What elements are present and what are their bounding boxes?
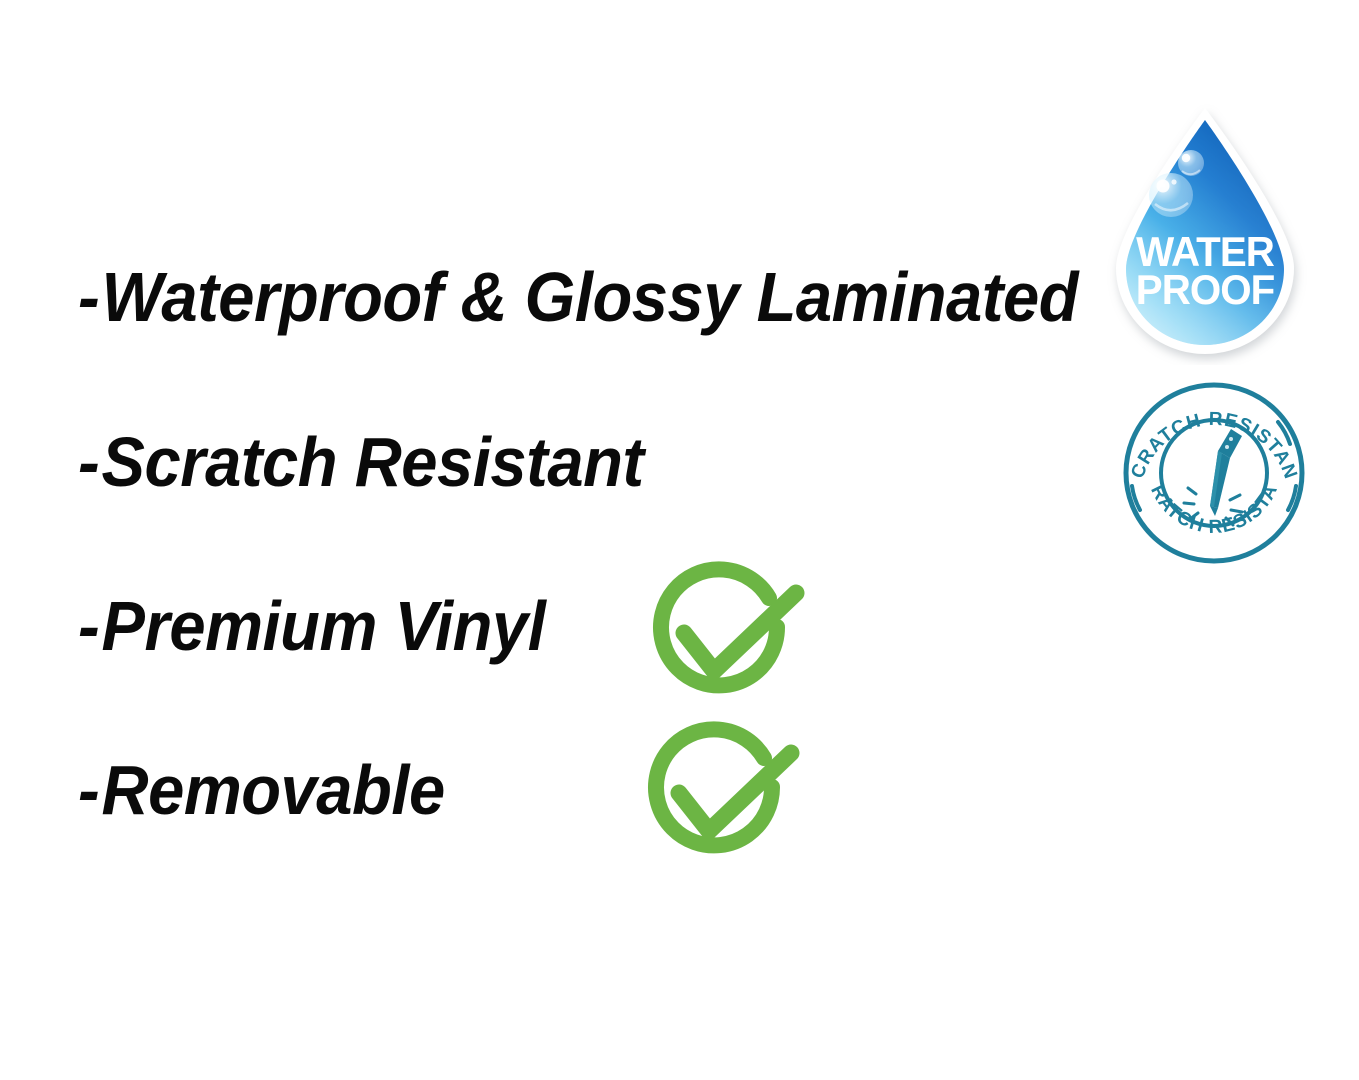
- feature-label: Waterproof & Glossy Laminated: [102, 258, 1078, 336]
- product-feature-graphic: -Waterproof & Glossy Laminated -Scratch …: [0, 0, 1359, 1080]
- feature-label: Scratch Resistant: [102, 423, 644, 501]
- check-circle-icon: [630, 718, 830, 878]
- feature-bullet-dash: -: [78, 751, 102, 829]
- feature-label: Removable: [102, 751, 445, 829]
- check-circle-icon: [635, 558, 835, 718]
- feature-label: Premium Vinyl: [102, 587, 546, 665]
- seal-text-top: SCRATCH RESISTANT: [1118, 382, 1301, 482]
- knife-icon: [1210, 429, 1242, 516]
- feature-bullet-dash: -: [78, 258, 102, 336]
- feature-item-removable: -Removable: [78, 755, 445, 825]
- bubble-small-icon: [1178, 150, 1204, 176]
- feature-item-waterproof-glossy-laminated: -Waterproof & Glossy Laminated: [78, 262, 1078, 332]
- feature-bullet-dash: -: [78, 423, 102, 501]
- scratch-resistant-badge: SCRATCH RESISTANT SCRATCH RESISTANT: [1118, 382, 1310, 564]
- bubble-large-icon: [1149, 173, 1193, 217]
- feature-item-premium-vinyl: -Premium Vinyl: [78, 591, 545, 661]
- feature-item-scratch-resistant: -Scratch Resistant: [78, 427, 644, 497]
- waterproof-label-line2: PROOF: [1136, 266, 1275, 313]
- waterproof-badge: WATER PROOF: [1098, 100, 1313, 365]
- feature-bullet-dash: -: [78, 587, 102, 665]
